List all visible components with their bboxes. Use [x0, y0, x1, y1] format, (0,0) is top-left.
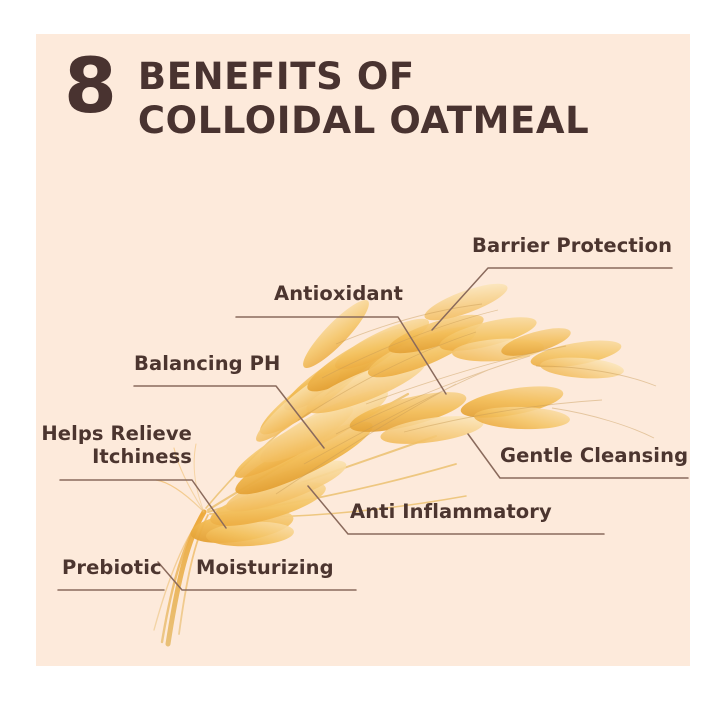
benefit-label-gentle-cleansing: Gentle Cleansing [500, 444, 688, 467]
benefit-label-antioxidant: Antioxidant [274, 282, 403, 305]
leader-barrier-protection [432, 268, 672, 330]
page-title-line-2: COLLOIDAL OATMEAL [138, 99, 589, 143]
benefit-label-anti-inflammatory: Anti Inflammatory [350, 500, 552, 523]
oat-branch-group [206, 366, 466, 517]
page-title: BENEFITS OF COLLOIDAL OATMEAL [138, 50, 589, 142]
infographic-root: 8 BENEFITS OF COLLOIDAL OATMEAL [0, 0, 720, 720]
header: 8 BENEFITS OF COLLOIDAL OATMEAL [64, 50, 589, 142]
benefit-label-balancing-ph: Balancing PH [134, 352, 280, 375]
benefit-label-prebiotic: Prebiotic [62, 556, 162, 579]
page-title-line-1: BENEFITS OF [138, 55, 589, 99]
benefit-count-number: 8 [64, 50, 116, 122]
oat-stem-group [154, 444, 208, 644]
benefit-label-helps-relieve-itchiness-line-2: Itchiness [92, 445, 192, 468]
benefit-label-moisturizing: Moisturizing [196, 556, 334, 579]
content-panel: 8 BENEFITS OF COLLOIDAL OATMEAL [36, 34, 690, 666]
benefit-label-helps-relieve-itchiness-line-1: Helps Relieve [41, 422, 192, 445]
benefit-label-helps-relieve-itchiness: Helps Relieve Itchiness [40, 422, 192, 468]
benefit-label-barrier-protection: Barrier Protection [472, 234, 672, 257]
leader-helps-relieve-itchiness [60, 480, 226, 528]
